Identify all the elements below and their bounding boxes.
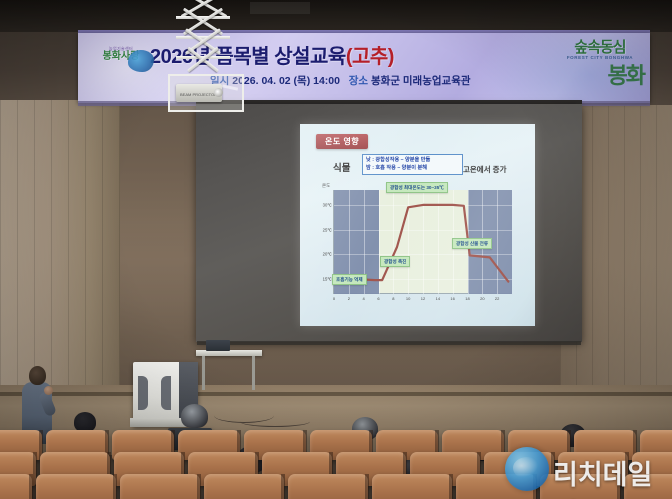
presenter-head bbox=[29, 366, 46, 385]
screenshot-root: 농업기술센터 봉화사랑 2026년 품목별 상설교육(고추) 일시 2026. … bbox=[0, 0, 672, 499]
x-tick-label: 12 bbox=[421, 296, 425, 301]
logo-left-mark-icon bbox=[128, 50, 154, 72]
annotation-respiration: 호흡기능 억제 bbox=[332, 274, 367, 285]
seat bbox=[372, 474, 452, 499]
banner-logo-right: 숲속동심 FOREST CITY BONGHWA 봉화 bbox=[552, 40, 648, 92]
audience-member bbox=[74, 412, 96, 432]
annotation-max-temp: 광합성 최대온도는 30~35℃ bbox=[386, 182, 448, 193]
banner-place-value: 봉화군 미래농업교육관 bbox=[371, 75, 471, 87]
banner-place-label: 장소 bbox=[349, 75, 368, 87]
y-tick-label: 15℃ bbox=[323, 277, 332, 282]
x-tick-label: 0 bbox=[333, 296, 335, 301]
chart-y-axis-label: 온도 bbox=[322, 183, 330, 189]
seat-divider bbox=[113, 474, 117, 499]
annotation-translocation: 광합성 산물 전류 bbox=[452, 238, 492, 249]
slide-right-note: 고온에서 증가 bbox=[463, 164, 506, 175]
projected-slide: 온도 영향 식물 낮 : 광합성작용 – 양분을 만듦 밤 : 호흡 작용 – … bbox=[300, 124, 535, 326]
logo-right-kr-text: 숲속동심 bbox=[552, 40, 648, 55]
side-table-leg-right bbox=[252, 356, 255, 390]
ceiling-vent-icon bbox=[250, 2, 310, 14]
y-tick-label: 20℃ bbox=[323, 252, 332, 257]
wall-left-slats bbox=[0, 100, 120, 400]
x-tick-label: 18 bbox=[465, 296, 469, 301]
slide-note-line1: 낮 : 광합성작용 – 양분을 만듦 bbox=[366, 157, 459, 165]
slide-subject-label: 식물 bbox=[333, 160, 350, 174]
banner-date-value: 2026. 04. 02 (목) 14:00 bbox=[232, 75, 340, 87]
banner-title-highlight: (고추) bbox=[346, 46, 394, 68]
lectern-notch-right bbox=[161, 376, 171, 410]
seat-divider bbox=[365, 474, 369, 499]
x-tick-label: 8 bbox=[392, 296, 394, 301]
seat-divider bbox=[449, 474, 453, 499]
stage-edge bbox=[0, 392, 672, 396]
projector-lift: BEAM PROJECTOR bbox=[168, 0, 240, 108]
banner-subline: 일시 2026. 04. 02 (목) 14:00 장소 봉화군 미래농업교육관 bbox=[210, 73, 540, 91]
scissor-arms-icon bbox=[174, 0, 232, 78]
projector-lens-icon bbox=[214, 88, 223, 97]
x-tick-label: 16 bbox=[450, 296, 454, 301]
x-tick-label: 20 bbox=[480, 296, 484, 301]
seat bbox=[288, 474, 368, 499]
seat bbox=[120, 474, 200, 499]
laptop-device bbox=[206, 340, 230, 351]
x-tick-label: 6 bbox=[377, 296, 379, 301]
seat-divider bbox=[29, 474, 33, 499]
logo-right-big-text: 봉화 bbox=[608, 58, 644, 90]
seat-divider bbox=[281, 474, 285, 499]
chart-plot-area: 15℃20℃25℃30℃ 0246810121416182022 광합성 최대온… bbox=[333, 190, 511, 294]
x-tick-label: 10 bbox=[406, 296, 410, 301]
y-tick-label: 25℃ bbox=[323, 227, 332, 232]
slide-title: 온도 영향 bbox=[316, 134, 368, 149]
globe-icon bbox=[505, 447, 549, 491]
cable-2 bbox=[240, 416, 310, 427]
watermark: 리치데일리 bbox=[505, 447, 665, 491]
lectern-notch-left bbox=[138, 376, 148, 410]
y-tick-label: 30℃ bbox=[323, 202, 332, 207]
x-tick-label: 14 bbox=[436, 296, 440, 301]
x-tick-label: 4 bbox=[363, 296, 365, 301]
x-tick-label: 2 bbox=[348, 296, 350, 301]
screen-frame-bottom bbox=[197, 341, 581, 345]
seat bbox=[0, 474, 32, 499]
slide-note-box: 낮 : 광합성작용 – 양분을 만듦 밤 : 호흡 작용 – 양분이 분해 bbox=[362, 154, 463, 175]
slide-note-line2: 밤 : 호흡 작용 – 양분이 분해 bbox=[366, 165, 459, 173]
audience-member bbox=[181, 404, 208, 428]
x-tick-label: 22 bbox=[495, 296, 499, 301]
annotation-photosynthesis: 광합성 촉진 bbox=[380, 256, 410, 267]
ceiling bbox=[0, 0, 672, 32]
seat bbox=[36, 474, 116, 499]
seat bbox=[204, 474, 284, 499]
temperature-chart: 15℃20℃25℃30℃ 0246810121416182022 광합성 최대온… bbox=[333, 190, 511, 306]
seat-divider bbox=[197, 474, 201, 499]
side-table-leg-left bbox=[202, 356, 205, 390]
presenter-hand bbox=[44, 386, 53, 395]
projector-device-label: BEAM PROJECTOR bbox=[180, 92, 217, 97]
banner-logo-left: 농업기술센터 봉화사랑 bbox=[88, 46, 154, 78]
watermark-text: 리치데일리 bbox=[553, 453, 665, 499]
